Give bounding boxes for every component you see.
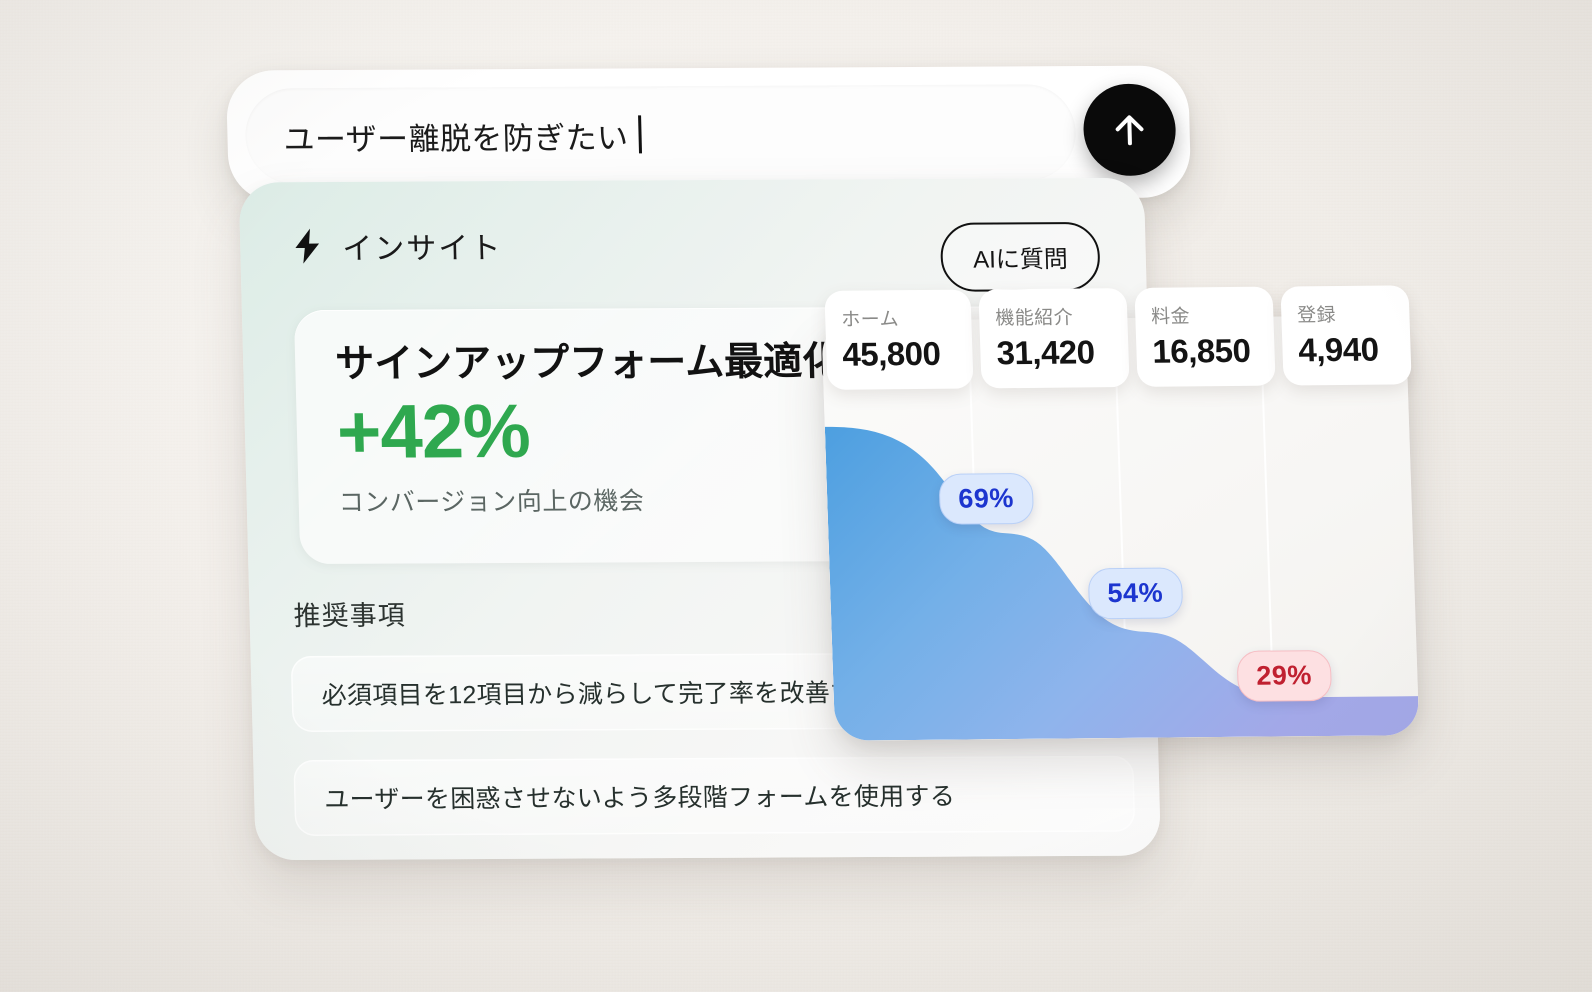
search-input[interactable]: ユーザー離脱を防ぎたい [244, 84, 1077, 184]
funnel-step-label: 機能紹介 [995, 302, 1112, 330]
funnel-step-card[interactable]: ホーム 45,800 [824, 290, 973, 390]
funnel-step-label: 登録 [1297, 299, 1394, 327]
lightning-bolt-icon [292, 227, 323, 265]
funnel-step-value: 45,800 [842, 335, 957, 374]
funnel-step-cards: ホーム 45,800 機能紹介 31,420 料金 16,850 登録 4,94… [824, 285, 1411, 390]
funnel-step-label: ホーム [841, 304, 956, 332]
funnel-step-label: 料金 [1151, 301, 1258, 329]
recommendations-heading: 推奨事項 [293, 594, 406, 634]
search-input-value: ユーザー離脱を防ぎたい [283, 112, 629, 159]
submit-button[interactable] [1082, 84, 1176, 176]
funnel-step-card[interactable]: 機能紹介 31,420 [978, 288, 1129, 388]
insight-title: インサイト [342, 223, 503, 268]
text-cursor [638, 115, 642, 153]
funnel-step-value: 31,420 [996, 333, 1113, 372]
funnel-step-card[interactable]: 料金 16,850 [1134, 287, 1275, 387]
conversion-badge: 69% [938, 473, 1033, 525]
ask-ai-button[interactable]: AIに質問 [940, 222, 1100, 292]
funnel-step-value: 4,940 [1298, 330, 1395, 369]
conversion-badge: 54% [1088, 567, 1183, 619]
app-root: ユーザー離脱を防ぎたい インサイト AIに質問 サインアップフォーム最適化 +4… [0, 0, 1592, 992]
insight-header: インサイト [292, 223, 503, 268]
funnel-chart-panel: 69% 54% 29% ホーム 45,800 機能紹介 31,420 料金 16… [820, 285, 1427, 750]
funnel-step-value: 16,850 [1152, 332, 1259, 371]
recommendation-item[interactable]: ユーザーを困惑させないよう多段階フォームを使用する [293, 756, 1135, 836]
funnel-step-card[interactable]: 登録 4,940 [1280, 285, 1411, 385]
conversion-badge: 29% [1236, 650, 1331, 702]
arrow-up-icon [1106, 107, 1153, 153]
